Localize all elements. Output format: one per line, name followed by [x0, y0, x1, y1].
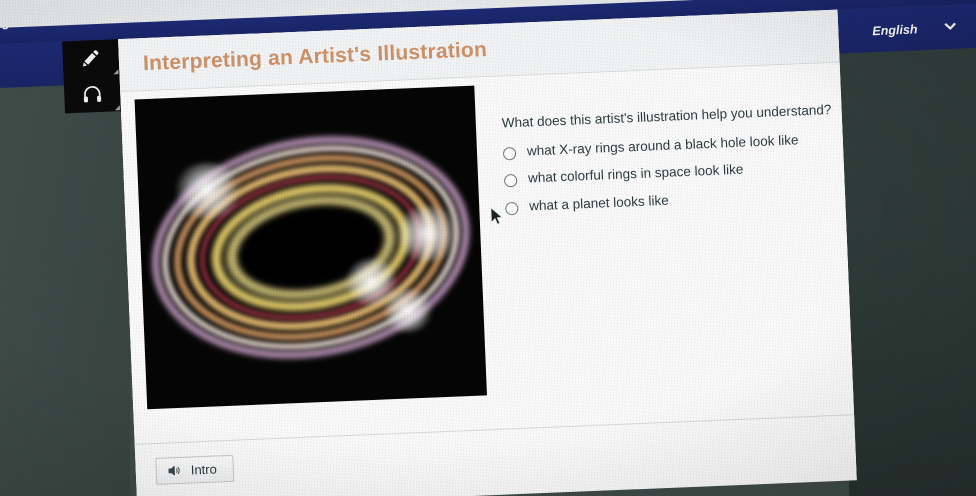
intro-button-label: Intro — [190, 461, 217, 477]
radio-button-icon[interactable] — [504, 174, 518, 188]
lesson-body: What does this artist's illustration hel… — [120, 63, 854, 444]
chevron-down-icon[interactable] — [943, 21, 958, 35]
page-title: Interpreting an Artist's Illustration — [143, 38, 488, 76]
answer-option-3[interactable]: what a planet looks like — [505, 186, 835, 216]
answer-option-label: what a planet looks like — [529, 193, 669, 216]
answer-option-1[interactable]: what X-ray rings around a black hole loo… — [503, 130, 833, 160]
radio-button-icon[interactable] — [503, 146, 517, 160]
tilted-screen-contents: ge Arts 6 Semester 2-4060-20/21-MS Engli… — [0, 0, 976, 496]
language-selector[interactable]: English K — [872, 17, 976, 39]
tool-corner-marker — [113, 69, 118, 74]
question-prompt: What does this artist's illustration hel… — [501, 101, 831, 132]
lesson-content-panel: Interpreting an Artist's Illustration — [118, 10, 857, 496]
black-hole-graphic — [141, 116, 481, 379]
artist-illustration — [135, 86, 487, 410]
answer-option-label: what colorful rings in space look like — [528, 162, 744, 188]
light-flare — [380, 287, 436, 333]
tool-rail — [62, 39, 121, 113]
intro-audio-button[interactable]: Intro — [155, 455, 234, 485]
speaker-icon — [167, 463, 183, 479]
tool-corner-marker — [115, 105, 120, 110]
question-block: What does this artist's illustration hel… — [501, 101, 835, 228]
highlighter-tool[interactable] — [62, 39, 119, 77]
audio-headphones-tool[interactable] — [64, 75, 121, 113]
radio-button-icon[interactable] — [505, 202, 519, 216]
screen-photograph: ge Arts 6 Semester 2-4060-20/21-MS Engli… — [0, 0, 976, 496]
answer-option-label: what X-ray rings around a black hole loo… — [527, 132, 799, 160]
answer-option-2[interactable]: what colorful rings in space look like — [504, 158, 834, 188]
language-label: English — [872, 22, 918, 38]
